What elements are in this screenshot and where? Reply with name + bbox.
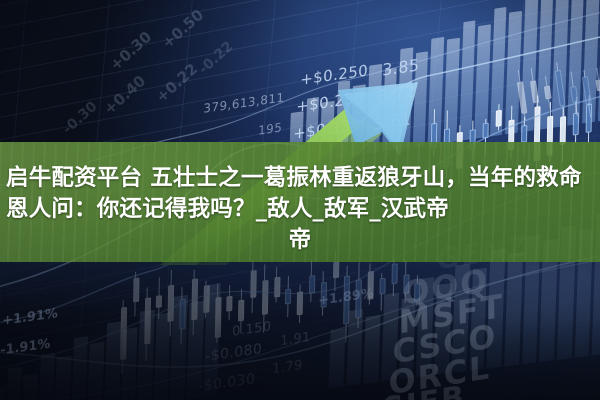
banner-stage: +$0.250 3.85 +$0.230 3.72 +$0.130 3.61 3… bbox=[0, 0, 600, 400]
vignette-overlay bbox=[0, 0, 600, 400]
